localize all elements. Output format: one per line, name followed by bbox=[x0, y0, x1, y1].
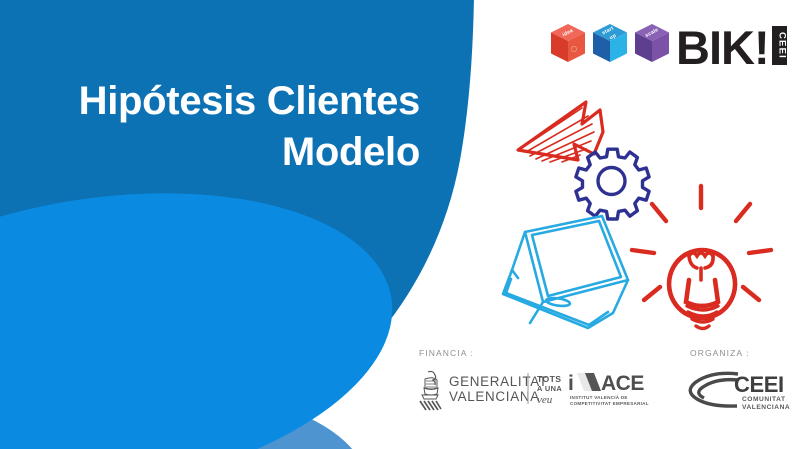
title-line-2: Modelo bbox=[0, 127, 420, 178]
cube-startup-icon: start up bbox=[593, 24, 627, 62]
cube-scale-icon: scale bbox=[635, 24, 669, 62]
gear-icon bbox=[576, 149, 649, 219]
tots-line1: TOTS bbox=[537, 374, 561, 384]
title-line-1: Hipótesis Clientes bbox=[0, 76, 420, 127]
ivace-logo: i ACE INSTITUT VALENCIÀ DE COMPETITIVITA… bbox=[568, 370, 660, 410]
ivace-sub2: COMPETITIVITAT EMPRESARIAL bbox=[570, 401, 649, 406]
cube-idea-icon: idea bbox=[551, 24, 585, 62]
laptop-icon bbox=[503, 216, 628, 328]
generalitat-line2: VALENCIANA bbox=[449, 389, 540, 404]
ceei-sub2: VALENCIANA bbox=[742, 404, 790, 411]
tots-line3: veu bbox=[537, 394, 553, 406]
arrow-icon bbox=[518, 102, 603, 162]
ceei-logo: CEEI COMUNITAT VALENCIANA bbox=[686, 368, 794, 412]
ivace-wordmark: ACE bbox=[601, 372, 644, 395]
organiza-label: ORGANIZA : bbox=[690, 348, 750, 358]
generalitat-emblem-icon bbox=[420, 371, 441, 410]
ivace-sub1: INSTITUT VALENCIÀ DE bbox=[570, 394, 628, 400]
bik-logo: idea start up scale BIK! bbox=[548, 18, 790, 74]
ceei-wordmark: CEEI bbox=[734, 372, 784, 397]
footer: FINANCIA : ORGANIZA : GENERALITAT bbox=[0, 336, 800, 449]
generalitat-line1: GENERALITAT bbox=[449, 374, 548, 389]
slide-canvas: Hipótesis Clientes Modelo idea start up bbox=[0, 0, 800, 449]
financia-label: FINANCIA : bbox=[419, 348, 474, 358]
lightbulb-icon bbox=[632, 186, 771, 329]
ceei-sub1: COMUNITAT bbox=[742, 396, 786, 403]
ivace-lead: i bbox=[568, 372, 574, 395]
tots-line2: A UNA bbox=[537, 384, 562, 393]
svg-text:CEEI: CEEI bbox=[777, 32, 788, 59]
page-title: Hipótesis Clientes Modelo bbox=[0, 76, 420, 178]
bik-wordmark: BIK! bbox=[676, 21, 769, 74]
generalitat-valenciana-logo: GENERALITAT VALENCIANA TOTS A UNA veu bbox=[418, 368, 570, 412]
ceei-swoosh-icon bbox=[690, 373, 738, 406]
ceei-tag-icon: CEEI bbox=[772, 26, 788, 65]
doodle-illustrations bbox=[470, 80, 800, 345]
